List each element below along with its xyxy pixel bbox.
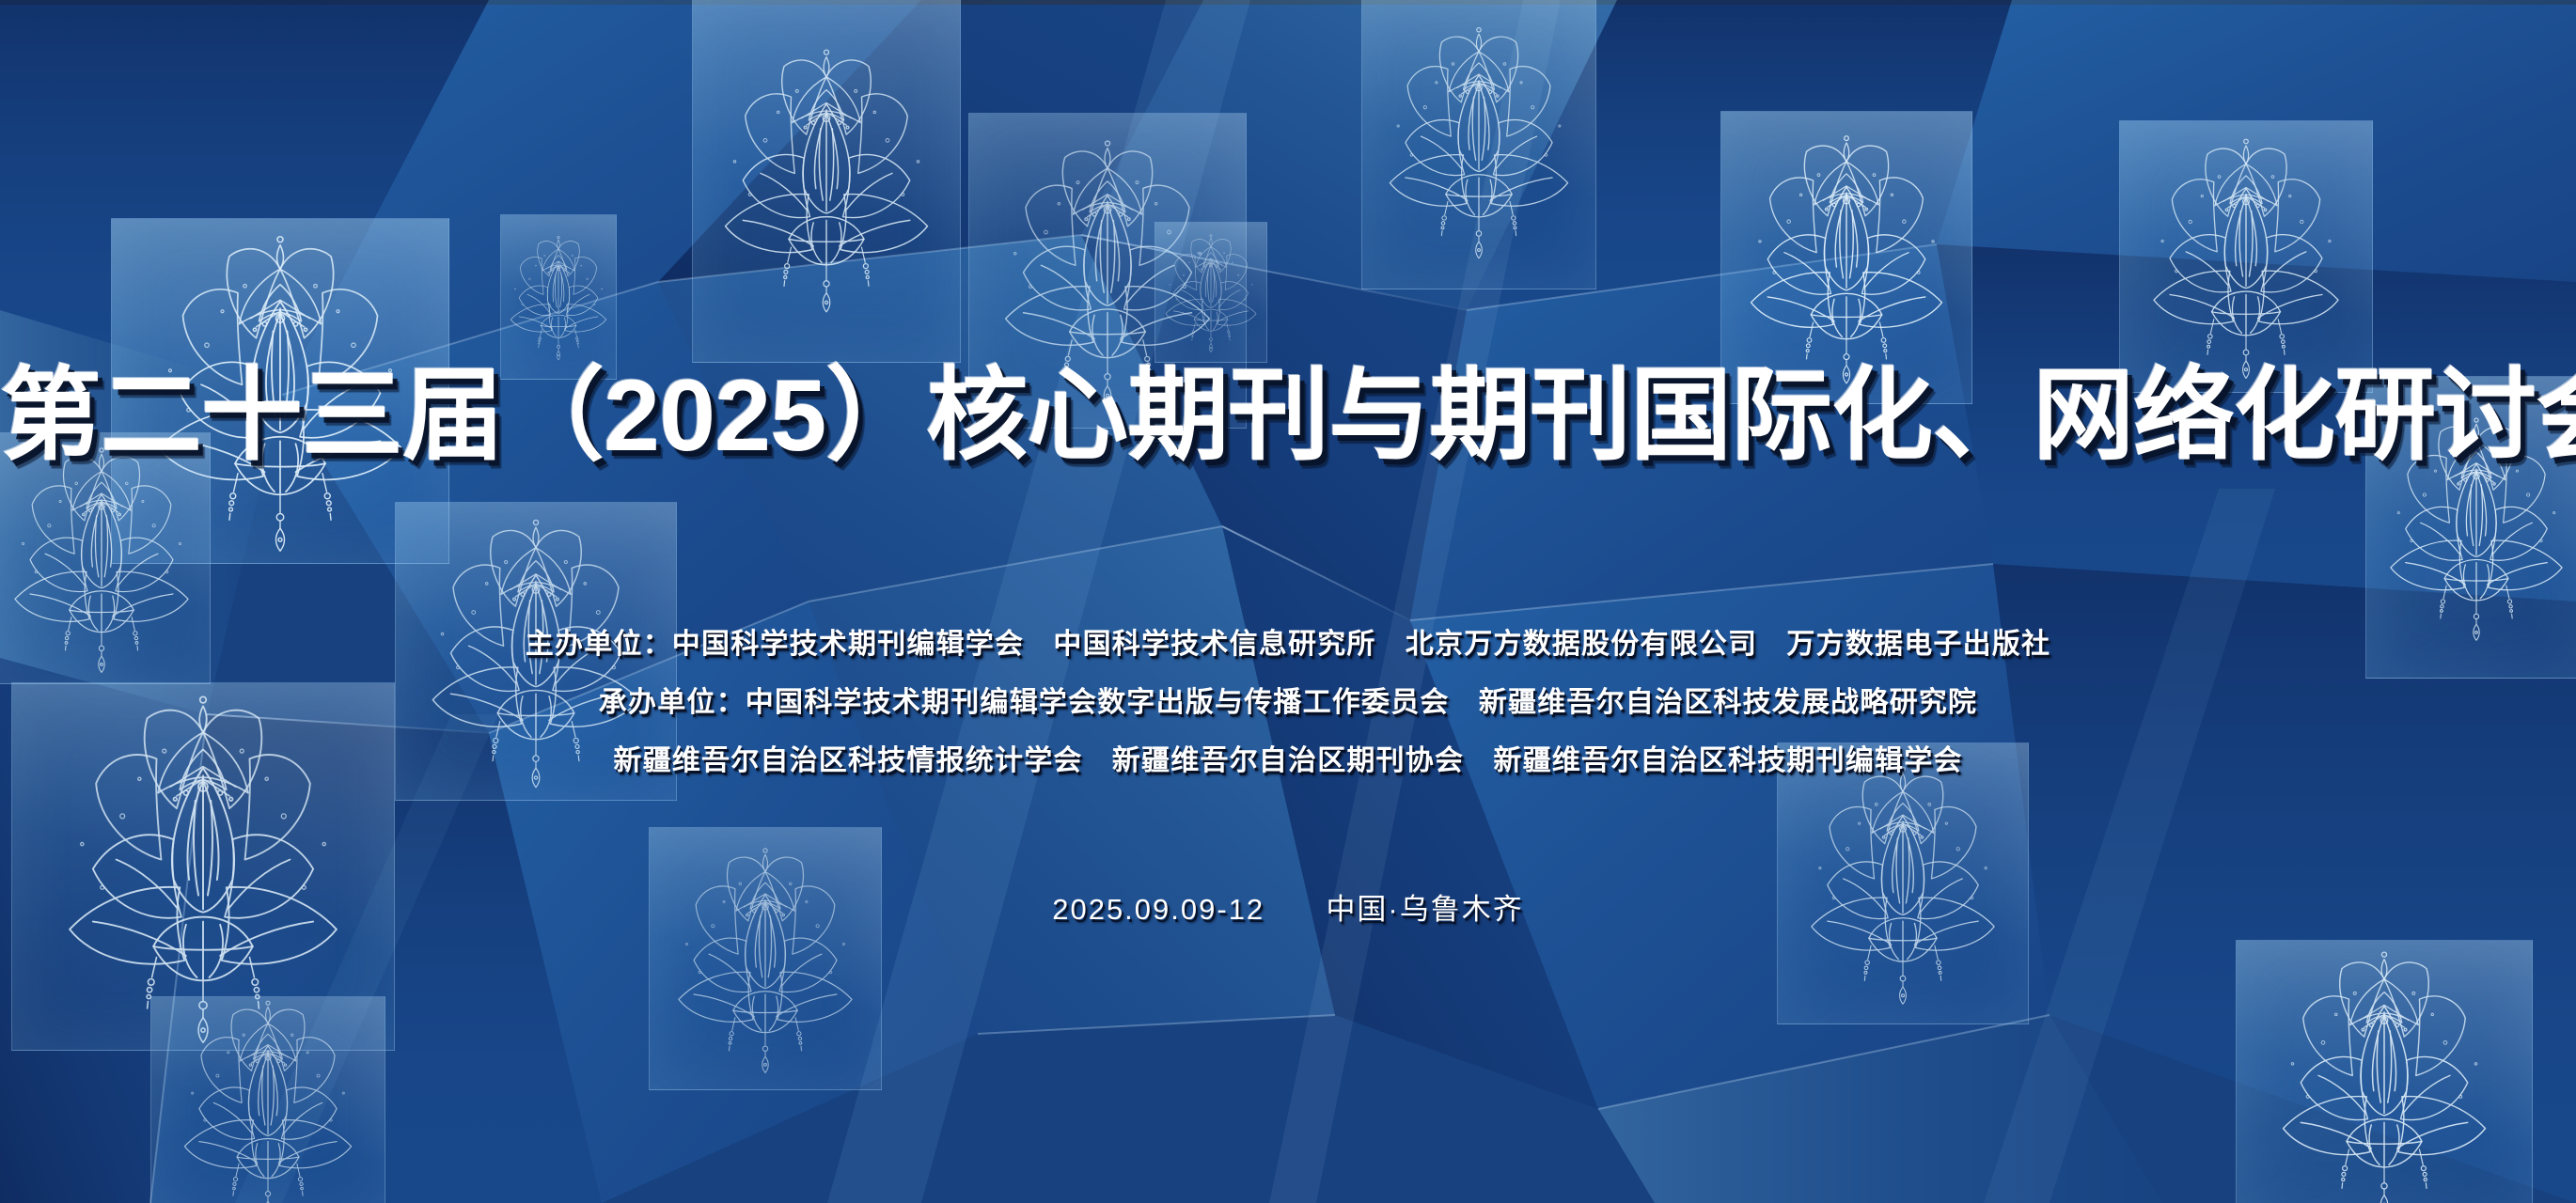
lotus-icon (2237, 941, 2532, 1203)
coorganizer-line-1: 承办单位：中国科学技术期刊编辑学会数字出版与传播工作委员会 新疆维吾尔自治区科技… (0, 674, 2576, 732)
lotus-icon (501, 215, 616, 379)
conference-banner: 第二十三届（2025）核心期刊与期刊国际化、网络化研讨会 主办单位：中国科学技术… (0, 0, 2576, 1203)
lotus-panel (649, 827, 882, 1090)
lotus-icon (1362, 0, 1595, 289)
lotus-panel (1361, 0, 1596, 289)
lotus-panel (692, 0, 961, 363)
page-title: 第二十三届（2025）核心期刊与期刊国际化、网络化研讨会 (0, 355, 2576, 475)
lotus-icon (2120, 121, 2372, 392)
lotus-icon (151, 997, 385, 1203)
event-location: 中国·乌鲁木齐 (1326, 893, 1523, 926)
lotus-panel (2236, 940, 2533, 1203)
lotus-icon (693, 0, 960, 362)
host-organizer-line: 主办单位：中国科学技术期刊编辑学会 中国科学技术信息研究所 北京万方数据股份有限… (0, 616, 2576, 674)
lotus-panel (1154, 222, 1267, 363)
lotus-panel (2119, 120, 2373, 393)
coorganizer-line-2: 新疆维吾尔自治区科技情报统计学会 新疆维吾尔自治区期刊协会 新疆维吾尔自治区科技… (0, 732, 2576, 790)
lotus-icon (650, 828, 881, 1089)
organizer-block: 主办单位：中国科学技术期刊编辑学会 中国科学技术信息研究所 北京万方数据股份有限… (0, 616, 2576, 790)
lotus-panel (150, 996, 385, 1203)
event-date: 2025.09.09-12 (1052, 893, 1264, 926)
event-date-location: 2025.09.09-12 中国·乌鲁木齐 (0, 885, 2576, 928)
lotus-icon (1155, 223, 1266, 362)
